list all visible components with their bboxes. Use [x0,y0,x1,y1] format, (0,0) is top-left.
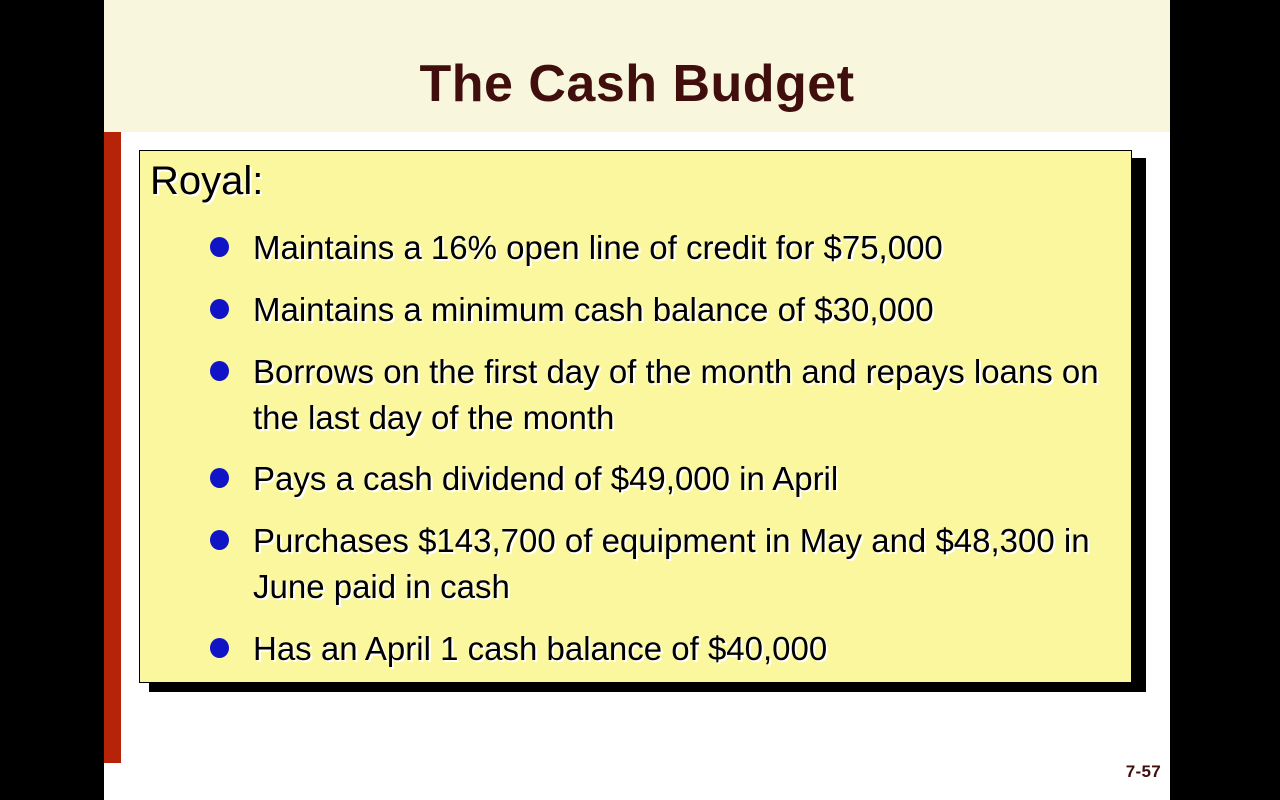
bullet-point-icon [210,299,229,319]
bullet-point-icon [210,468,229,488]
list-item: Purchases $143,700 of equipment in May a… [198,518,1118,610]
slide-root: The Cash Budget Royal: Maintains a 16% o… [0,0,1280,800]
list-item: Has an April 1 cash balance of $40,000 [198,626,1118,672]
list-item: Pays a cash dividend of $49,000 in April [198,456,1118,502]
list-item-label: Maintains a minimum cash balance of $30,… [253,287,1118,333]
list-item-label: Purchases $143,700 of equipment in May a… [253,518,1118,610]
slide-number: 7-57 [1126,762,1161,782]
list-item: Maintains a minimum cash balance of $30,… [198,287,1118,333]
list-item-label: Has an April 1 cash balance of $40,000 [253,626,1118,672]
bullet-point-icon [210,237,229,257]
slide-canvas: The Cash Budget Royal: Maintains a 16% o… [104,0,1170,800]
list-item-label: Maintains a 16% open line of credit for … [253,225,1118,271]
content-card: Royal: Maintains a 16% open line of cred… [139,150,1132,683]
list-item: Borrows on the first day of the month an… [198,349,1118,441]
bullet-point-icon [210,361,229,381]
bullet-list: Maintains a 16% open line of credit for … [198,225,1118,672]
letterbox-bar-left [0,0,104,800]
accent-bar [104,132,121,763]
list-item-label: Borrows on the first day of the month an… [253,349,1118,441]
list-item: Maintains a 16% open line of credit for … [198,225,1118,271]
bullet-point-icon [210,530,229,550]
list-item-label: Pays a cash dividend of $49,000 in April [253,456,1118,502]
bullet-point-icon [210,638,229,658]
page-title: The Cash Budget [104,58,1170,110]
letterbox-bar-right [1170,0,1280,800]
card-heading: Royal: [150,159,263,203]
